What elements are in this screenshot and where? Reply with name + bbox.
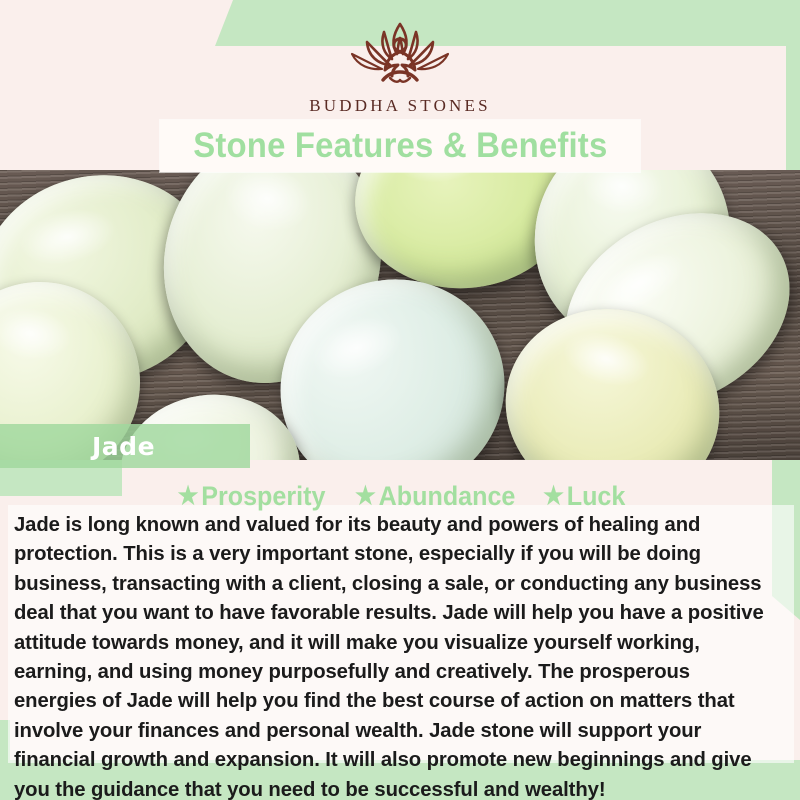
- benefit-luck: ★Luck: [543, 481, 625, 512]
- stone-name-chip: Jade: [0, 424, 250, 468]
- brand-wordmark: BUDDHA STONES: [0, 96, 800, 116]
- benefit-label-1: Prosperity: [201, 481, 325, 511]
- benefit-abundance: ★Abundance: [355, 481, 515, 512]
- page-title: Stone Features & Benefits: [193, 126, 607, 166]
- benefit-prosperity: ★Prosperity: [177, 481, 325, 512]
- star-icon-1: ★: [177, 481, 198, 511]
- stone-benefits-poster: BUDDHA STONES Stone Features & Benefits …: [0, 0, 800, 800]
- benefit-label-3: Luck: [567, 481, 626, 511]
- title-banner: Stone Features & Benefits: [160, 120, 640, 172]
- star-icon-3: ★: [543, 481, 564, 511]
- brand-logo-block: BUDDHA STONES: [0, 18, 800, 116]
- description-text: Jade is long known and valued for its be…: [14, 510, 777, 800]
- stone-name-text: Jade: [92, 432, 155, 461]
- star-icon-2: ★: [355, 481, 376, 511]
- benefits-row: ★Prosperity ★Abundance ★Luck: [0, 481, 800, 512]
- lotus-meditation-figure-icon: [340, 18, 460, 94]
- benefit-label-2: Abundance: [379, 481, 516, 511]
- jade-stones-photo: [0, 170, 800, 460]
